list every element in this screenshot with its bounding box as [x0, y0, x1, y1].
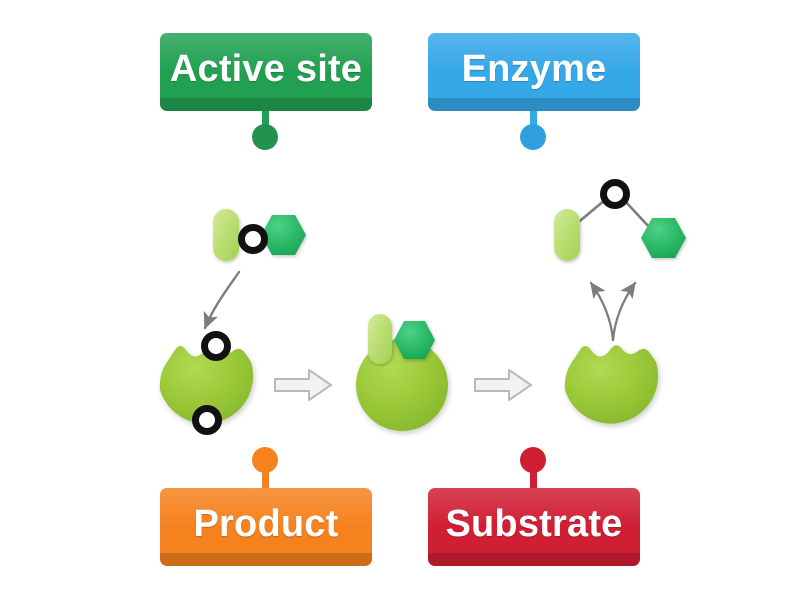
- substrate-capsule-icon: [368, 314, 392, 364]
- label-product[interactable]: Product: [160, 488, 372, 566]
- connector-knob-product: [252, 447, 278, 473]
- connector-knob-substrate: [520, 447, 546, 473]
- enzyme-reaction-diagram: [0, 0, 800, 600]
- substrate-hexagon-icon: [261, 215, 306, 255]
- substrate-capsule-icon: [554, 209, 580, 261]
- diagram-canvas: Active site Enzyme Product Substrate: [0, 0, 800, 600]
- label-product-text: Product: [194, 505, 339, 550]
- active-site-ring-icon: [205, 335, 228, 358]
- label-substrate-text: Substrate: [445, 505, 622, 550]
- binding-arrow-icon: [205, 272, 239, 328]
- connector-knob-active-site: [252, 124, 278, 150]
- enzyme-substrate-complex-middle: [356, 314, 448, 431]
- label-active-site-text: Active site: [170, 50, 362, 95]
- active-site-ring-icon: [604, 183, 627, 206]
- connector-knob-enzyme: [520, 124, 546, 150]
- label-enzyme[interactable]: Enzyme: [428, 33, 640, 111]
- substrate-capsule-icon: [213, 209, 239, 261]
- bond-line: [625, 201, 650, 228]
- enzyme-body-right: [565, 345, 658, 423]
- released-products-group: [554, 183, 686, 262]
- free-substrate-group-left: [213, 209, 306, 261]
- release-arrows-icon: [591, 283, 635, 340]
- active-site-ring-icon: [196, 409, 219, 432]
- active-site-ring-icon: [242, 228, 265, 251]
- flow-arrow-1-icon: [275, 370, 331, 400]
- enzyme-shape: [565, 345, 658, 423]
- label-enzyme-text: Enzyme: [462, 50, 607, 95]
- label-substrate[interactable]: Substrate: [428, 488, 640, 566]
- flow-arrow-2-icon: [475, 370, 531, 400]
- label-active-site[interactable]: Active site: [160, 33, 372, 111]
